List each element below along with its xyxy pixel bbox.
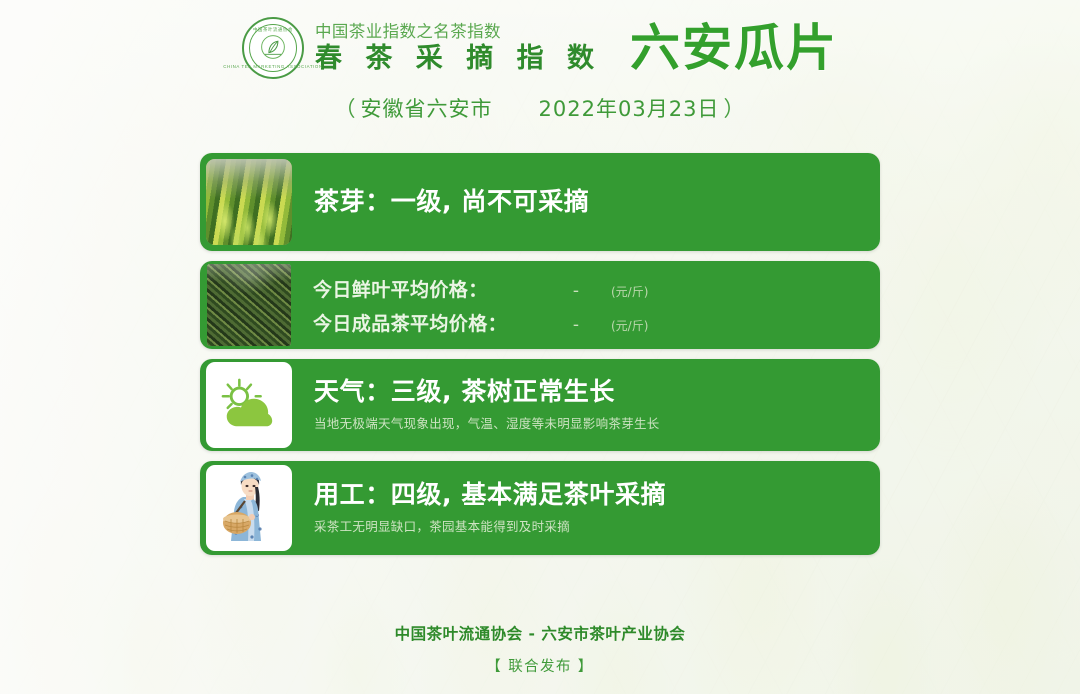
- date-label: 2022年03月23日: [539, 97, 720, 121]
- region-label: 安徽省六安市: [361, 97, 493, 121]
- card-tea-bud[interactable]: 茶芽：一级, 尚不可采摘: [200, 153, 880, 251]
- card-price[interactable]: 今日鲜叶平均价格： - (元/斤) 今日成品茶平均价格： - (元/斤): [200, 261, 880, 349]
- tea-picker-icon: [219, 471, 279, 545]
- poster-footer: 中国茶叶流通协会 - 六安市茶叶产业协会 【 联合发布 】: [0, 622, 1080, 676]
- header-title-row: 中国茶叶流通协会 CHINA TEA MARKETING ASSOCIATION…: [0, 17, 1080, 79]
- dry-tea-photo: [207, 264, 291, 346]
- paren-open: （: [335, 97, 357, 121]
- sun-behind-cloud-icon: [218, 376, 280, 434]
- card-weather[interactable]: 天气：三级, 茶树正常生长 当地无极端天气现象出现，气温、湿度等未明显影响茶芽生…: [200, 359, 880, 451]
- price-row: 今日鲜叶平均价格： - (元/斤): [313, 275, 864, 302]
- tea-bud-thumbnail: [206, 159, 292, 245]
- seal-bottom-text: CHINA TEA MARKETING ASSOCIATION: [223, 65, 322, 69]
- made-tea-price-unit: (元/斤): [611, 317, 648, 334]
- labor-headline: 用工：四级, 基本满足茶叶采摘: [314, 481, 864, 510]
- index-card-list: 茶芽：一级, 尚不可采摘 今日鲜叶平均价格： - (元/斤) 今日成品茶平均价格…: [200, 153, 880, 555]
- card-labor-body: 用工：四级, 基本满足茶叶采摘 采茶工无明显缺口，茶园基本能得到及时采摘: [292, 481, 880, 536]
- fresh-leaf-price-value: -: [541, 281, 611, 301]
- fresh-leaf-price-label: 今日鲜叶平均价格：: [313, 275, 541, 302]
- made-tea-price-value: -: [541, 315, 611, 335]
- made-tea-price-label: 今日成品茶平均价格：: [313, 309, 541, 336]
- card-tea-bud-body: 茶芽：一级, 尚不可采摘: [292, 188, 880, 217]
- labor-icon-tile: [206, 465, 292, 551]
- fresh-leaf-price-unit: (元/斤): [611, 283, 648, 300]
- location-date-line: （安徽省六安市2022年03月23日）: [0, 93, 1080, 123]
- dry-tea-thumbnail: [207, 264, 291, 346]
- labor-note: 采茶工无明显缺口，茶园基本能得到及时采摘: [314, 516, 864, 535]
- weather-headline: 天气：三级, 茶树正常生长: [314, 378, 864, 407]
- paren-close: ）: [723, 97, 745, 121]
- index-family-label: 中国茶业指数之名茶指数: [315, 24, 601, 41]
- index-name-label: 春 茶 采 摘 指 数: [315, 45, 601, 72]
- poster-header: 中国茶叶流通协会 CHINA TEA MARKETING ASSOCIATION…: [0, 0, 1080, 123]
- weather-icon-tile: [206, 362, 292, 448]
- brand-name: 六安瓜片: [630, 23, 838, 73]
- price-row: 今日成品茶平均价格： - (元/斤): [313, 309, 864, 336]
- tea-bud-photo: [206, 159, 292, 245]
- weather-note: 当地无极端天气现象出现，气温、湿度等未明显影响茶芽生长: [314, 413, 864, 432]
- tea-bud-headline: 茶芽：一级, 尚不可采摘: [314, 188, 864, 217]
- joint-release-label: 【 联合发布 】: [0, 655, 1080, 676]
- leaf-icon: [260, 34, 286, 60]
- card-price-body: 今日鲜叶平均价格： - (元/斤) 今日成品茶平均价格： - (元/斤): [291, 275, 880, 336]
- publishing-organizations: 中国茶叶流通协会 - 六安市茶叶产业协会: [0, 622, 1080, 644]
- price-row-list: 今日鲜叶平均价格： - (元/斤) 今日成品茶平均价格： - (元/斤): [313, 275, 864, 336]
- association-seal-logo: 中国茶叶流通协会 CHINA TEA MARKETING ASSOCIATION: [242, 17, 304, 79]
- index-title-stack: 中国茶业指数之名茶指数 春 茶 采 摘 指 数: [315, 24, 601, 73]
- poster-root: 中国茶叶流通协会 CHINA TEA MARKETING ASSOCIATION…: [0, 0, 1080, 694]
- card-weather-body: 天气：三级, 茶树正常生长 当地无极端天气现象出现，气温、湿度等未明显影响茶芽生…: [292, 378, 880, 433]
- seal-top-text: 中国茶叶流通协会: [253, 28, 293, 32]
- card-labor[interactable]: 用工：四级, 基本满足茶叶采摘 采茶工无明显缺口，茶园基本能得到及时采摘: [200, 461, 880, 555]
